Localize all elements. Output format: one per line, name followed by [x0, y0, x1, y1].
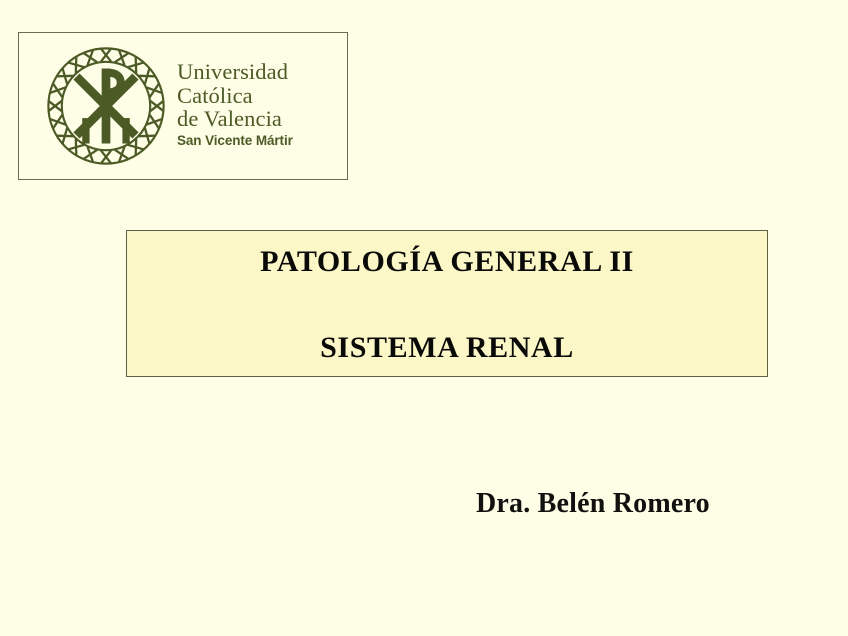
ucv-chi-rho-emblem-icon [39, 39, 173, 173]
slide-canvas: Universidad Católica de Valencia San Vic… [0, 0, 848, 636]
university-logo-box: Universidad Católica de Valencia San Vic… [18, 32, 348, 180]
page-title: PATOLOGÍA GENERAL II [127, 245, 767, 279]
wordmark-line-de-valencia: de Valencia [177, 108, 345, 131]
slide-title-box: PATOLOGÍA GENERAL II SISTEMA RENAL [126, 230, 768, 377]
wordmark-subtitle-san-vicente-martir: San Vicente Mártir [177, 134, 345, 148]
university-wordmark: Universidad Católica de Valencia San Vic… [177, 61, 345, 147]
wordmark-line-universidad: Universidad [177, 61, 345, 84]
page-subtitle: SISTEMA RENAL [127, 331, 767, 365]
wordmark-line-catolica: Católica [177, 85, 345, 108]
author-name: Dra. Belén Romero [476, 488, 710, 520]
